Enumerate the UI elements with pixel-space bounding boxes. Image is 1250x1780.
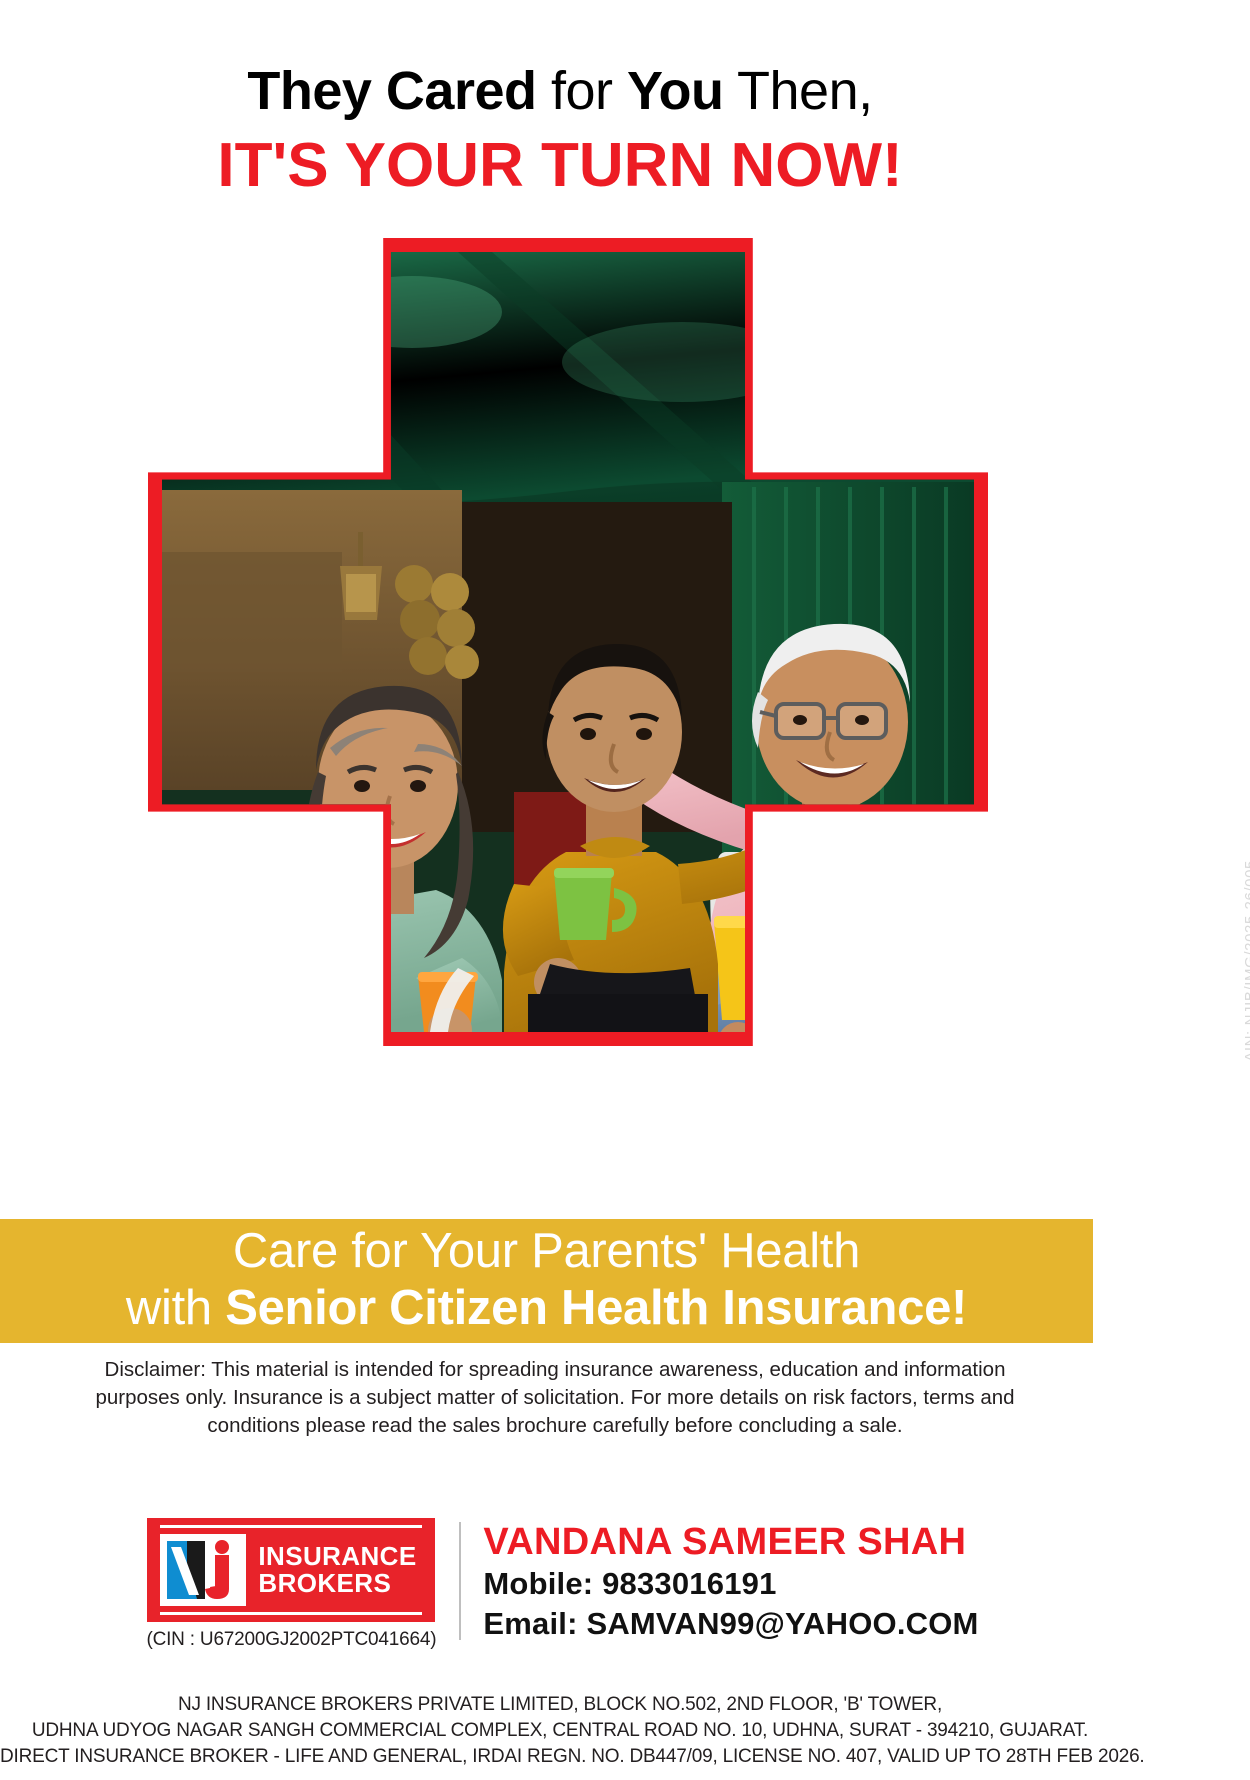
footer-line-2: UDHNA UDYOG NAGAR SANGH COMMERCIAL COMPL… bbox=[0, 1718, 1120, 1744]
cin-number: (CIN : U67200GJ2002PTC041664) bbox=[146, 1629, 436, 1651]
agent-name: VANDANA SAMEER SHAH bbox=[483, 1520, 978, 1564]
contact-row: INSURANCE BROKERS (CIN : U67200GJ2002PTC… bbox=[0, 1518, 1120, 1651]
headline-block: They Cared for You Then, IT'S YOUR TURN … bbox=[0, 58, 1120, 202]
logo-word-brokers: BROKERS bbox=[258, 1570, 416, 1597]
agent-email[interactable]: Email: SAMVAN99@YAHOO.COM bbox=[483, 1604, 978, 1644]
disclaimer-text: Disclaimer: This material is intended fo… bbox=[70, 1356, 1040, 1440]
nj-monogram-icon bbox=[160, 1534, 246, 1606]
footer-line-1: NJ INSURANCE BROKERS PRIVATE LIMITED, BL… bbox=[0, 1692, 1120, 1718]
promo-banner: Care for Your Parents' Health with Senio… bbox=[0, 1219, 1093, 1343]
nj-letters-icon bbox=[163, 1537, 243, 1603]
logo-word-insurance: INSURANCE bbox=[258, 1543, 416, 1570]
headline-line-2: IT'S YOUR TURN NOW! bbox=[0, 130, 1120, 202]
headline-you: You bbox=[627, 61, 723, 121]
family-photo bbox=[162, 252, 974, 1032]
agent-mobile[interactable]: Mobile: 9833016191 bbox=[483, 1564, 978, 1604]
banner-with: with bbox=[126, 1281, 225, 1335]
ain-code: AIN: NJIB/IMG/2025-26/005 bbox=[1242, 860, 1250, 1062]
banner-line-2: with Senior Citizen Health Insurance! bbox=[126, 1279, 967, 1337]
banner-product: Senior Citizen Health Insurance! bbox=[225, 1281, 967, 1335]
headline-for: for bbox=[536, 61, 627, 121]
headline-they-cared: They Cared bbox=[247, 61, 536, 121]
nj-monogram-inner bbox=[163, 1537, 243, 1603]
agent-details: VANDANA SAMEER SHAH Mobile: 9833016191 E… bbox=[483, 1518, 978, 1644]
headline-line-1: They Cared for You Then, bbox=[0, 58, 1120, 124]
nj-logo-wordmark: INSURANCE BROKERS bbox=[258, 1543, 416, 1597]
nj-insurance-brokers-logo: INSURANCE BROKERS bbox=[147, 1518, 435, 1622]
footer-line-3: DIRECT INSURANCE BROKER - LIFE AND GENER… bbox=[0, 1744, 1120, 1770]
logo-column: INSURANCE BROKERS (CIN : U67200GJ2002PTC… bbox=[141, 1518, 441, 1651]
vertical-divider bbox=[459, 1522, 461, 1640]
insurance-poster: They Cared for You Then, IT'S YOUR TURN … bbox=[0, 0, 1250, 1780]
footer-address: NJ INSURANCE BROKERS PRIVATE LIMITED, BL… bbox=[0, 1692, 1120, 1770]
hero-photo-cross bbox=[148, 238, 988, 1046]
banner-line-1: Care for Your Parents' Health bbox=[233, 1223, 860, 1279]
headline-then: Then, bbox=[724, 61, 873, 121]
family-photo-illustration bbox=[162, 252, 974, 1032]
